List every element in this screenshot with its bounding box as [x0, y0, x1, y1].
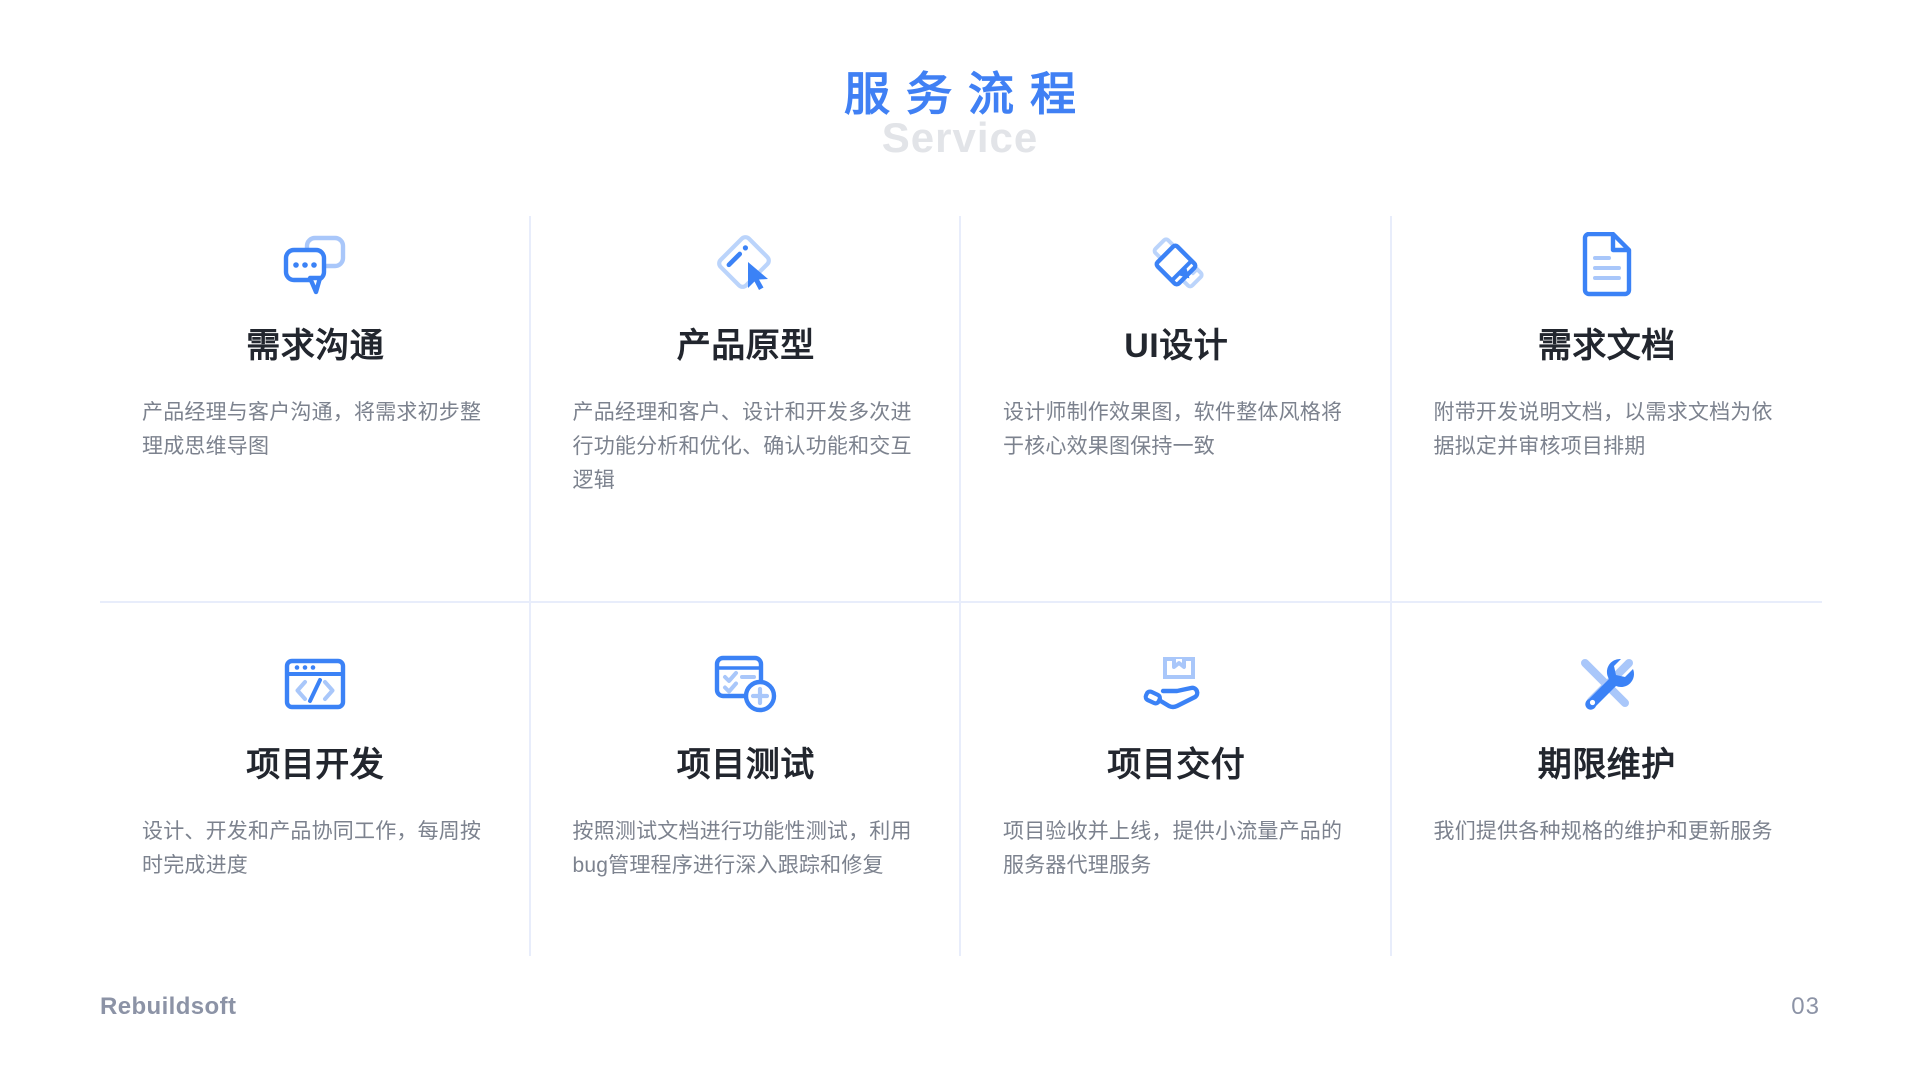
- card-description: 附带开发说明文档，以需求文档为依据拟定并审核项目排期: [1434, 396, 1781, 464]
- card-description: 产品经理与客户沟通，将需求初步整理成思维导图: [142, 396, 489, 464]
- card-title: 期限维护: [1538, 743, 1676, 787]
- service-card-requirement-document[interactable]: 需求文档 附带开发说明文档，以需求文档为依据拟定并审核项目排期: [1392, 216, 1823, 603]
- card-title: 产品原型: [677, 324, 815, 368]
- card-description: 产品经理和客户、设计和开发多次进行功能分析和优化、确认功能和交互逻辑: [573, 396, 920, 498]
- footer-page-number: 03: [1791, 993, 1820, 1021]
- card-description: 项目验收并上线，提供小流量产品的服务器代理服务: [1003, 815, 1350, 883]
- service-card-ui-design[interactable]: UI设计 设计师制作效果图，软件整体风格将于核心效果图保持一致: [961, 216, 1392, 603]
- service-card-project-delivery[interactable]: 项目交付 项目验收并上线，提供小流量产品的服务器代理服务: [961, 603, 1392, 956]
- wrench-screwdriver-icon: [1570, 647, 1644, 721]
- service-card-requirement-communication[interactable]: 需求沟通 产品经理与客户沟通，将需求初步整理成思维导图: [100, 216, 531, 603]
- card-description: 我们提供各种规格的维护和更新服务: [1434, 815, 1781, 849]
- checklist-plus-icon: [709, 647, 783, 721]
- card-title: 项目开发: [246, 743, 384, 787]
- card-title: 项目交付: [1107, 743, 1245, 787]
- service-cards-grid: 需求沟通 产品经理与客户沟通，将需求初步整理成思维导图 产品原型 产品经理和客户…: [100, 216, 1822, 956]
- card-title: 需求文档: [1538, 324, 1676, 368]
- service-card-project-testing[interactable]: 项目测试 按照测试文档进行功能性测试，利用bug管理程序进行深入跟踪和修复: [531, 603, 962, 956]
- card-title: UI设计: [1124, 324, 1228, 368]
- page-title-chinese: 服务流程: [0, 62, 1920, 126]
- card-description: 设计师制作效果图，软件整体风格将于核心效果图保持一致: [1003, 396, 1350, 464]
- service-card-maintenance[interactable]: 期限维护 我们提供各种规格的维护和更新服务: [1392, 603, 1823, 956]
- chat-bubbles-icon: [278, 228, 352, 302]
- service-card-project-development[interactable]: 项目开发 设计、开发和产品协同工作，每周按时完成进度: [100, 603, 531, 956]
- code-window-icon: [278, 647, 352, 721]
- card-title: 需求沟通: [246, 324, 384, 368]
- service-card-product-prototype[interactable]: 产品原型 产品经理和客户、设计和开发多次进行功能分析和优化、确认功能和交互逻辑: [531, 216, 962, 603]
- page-title-block: Service 服务流程: [0, 62, 1920, 192]
- footer-brand: Rebuildsoft: [100, 993, 236, 1021]
- hand-package-icon: [1139, 647, 1213, 721]
- prototype-cursor-icon: [709, 228, 783, 302]
- card-description: 设计、开发和产品协同工作，每周按时完成进度: [142, 815, 489, 883]
- card-description: 按照测试文档进行功能性测试，利用bug管理程序进行深入跟踪和修复: [573, 815, 920, 883]
- card-title: 项目测试: [677, 743, 815, 787]
- pencil-ruler-icon: [1139, 228, 1213, 302]
- document-icon: [1570, 228, 1644, 302]
